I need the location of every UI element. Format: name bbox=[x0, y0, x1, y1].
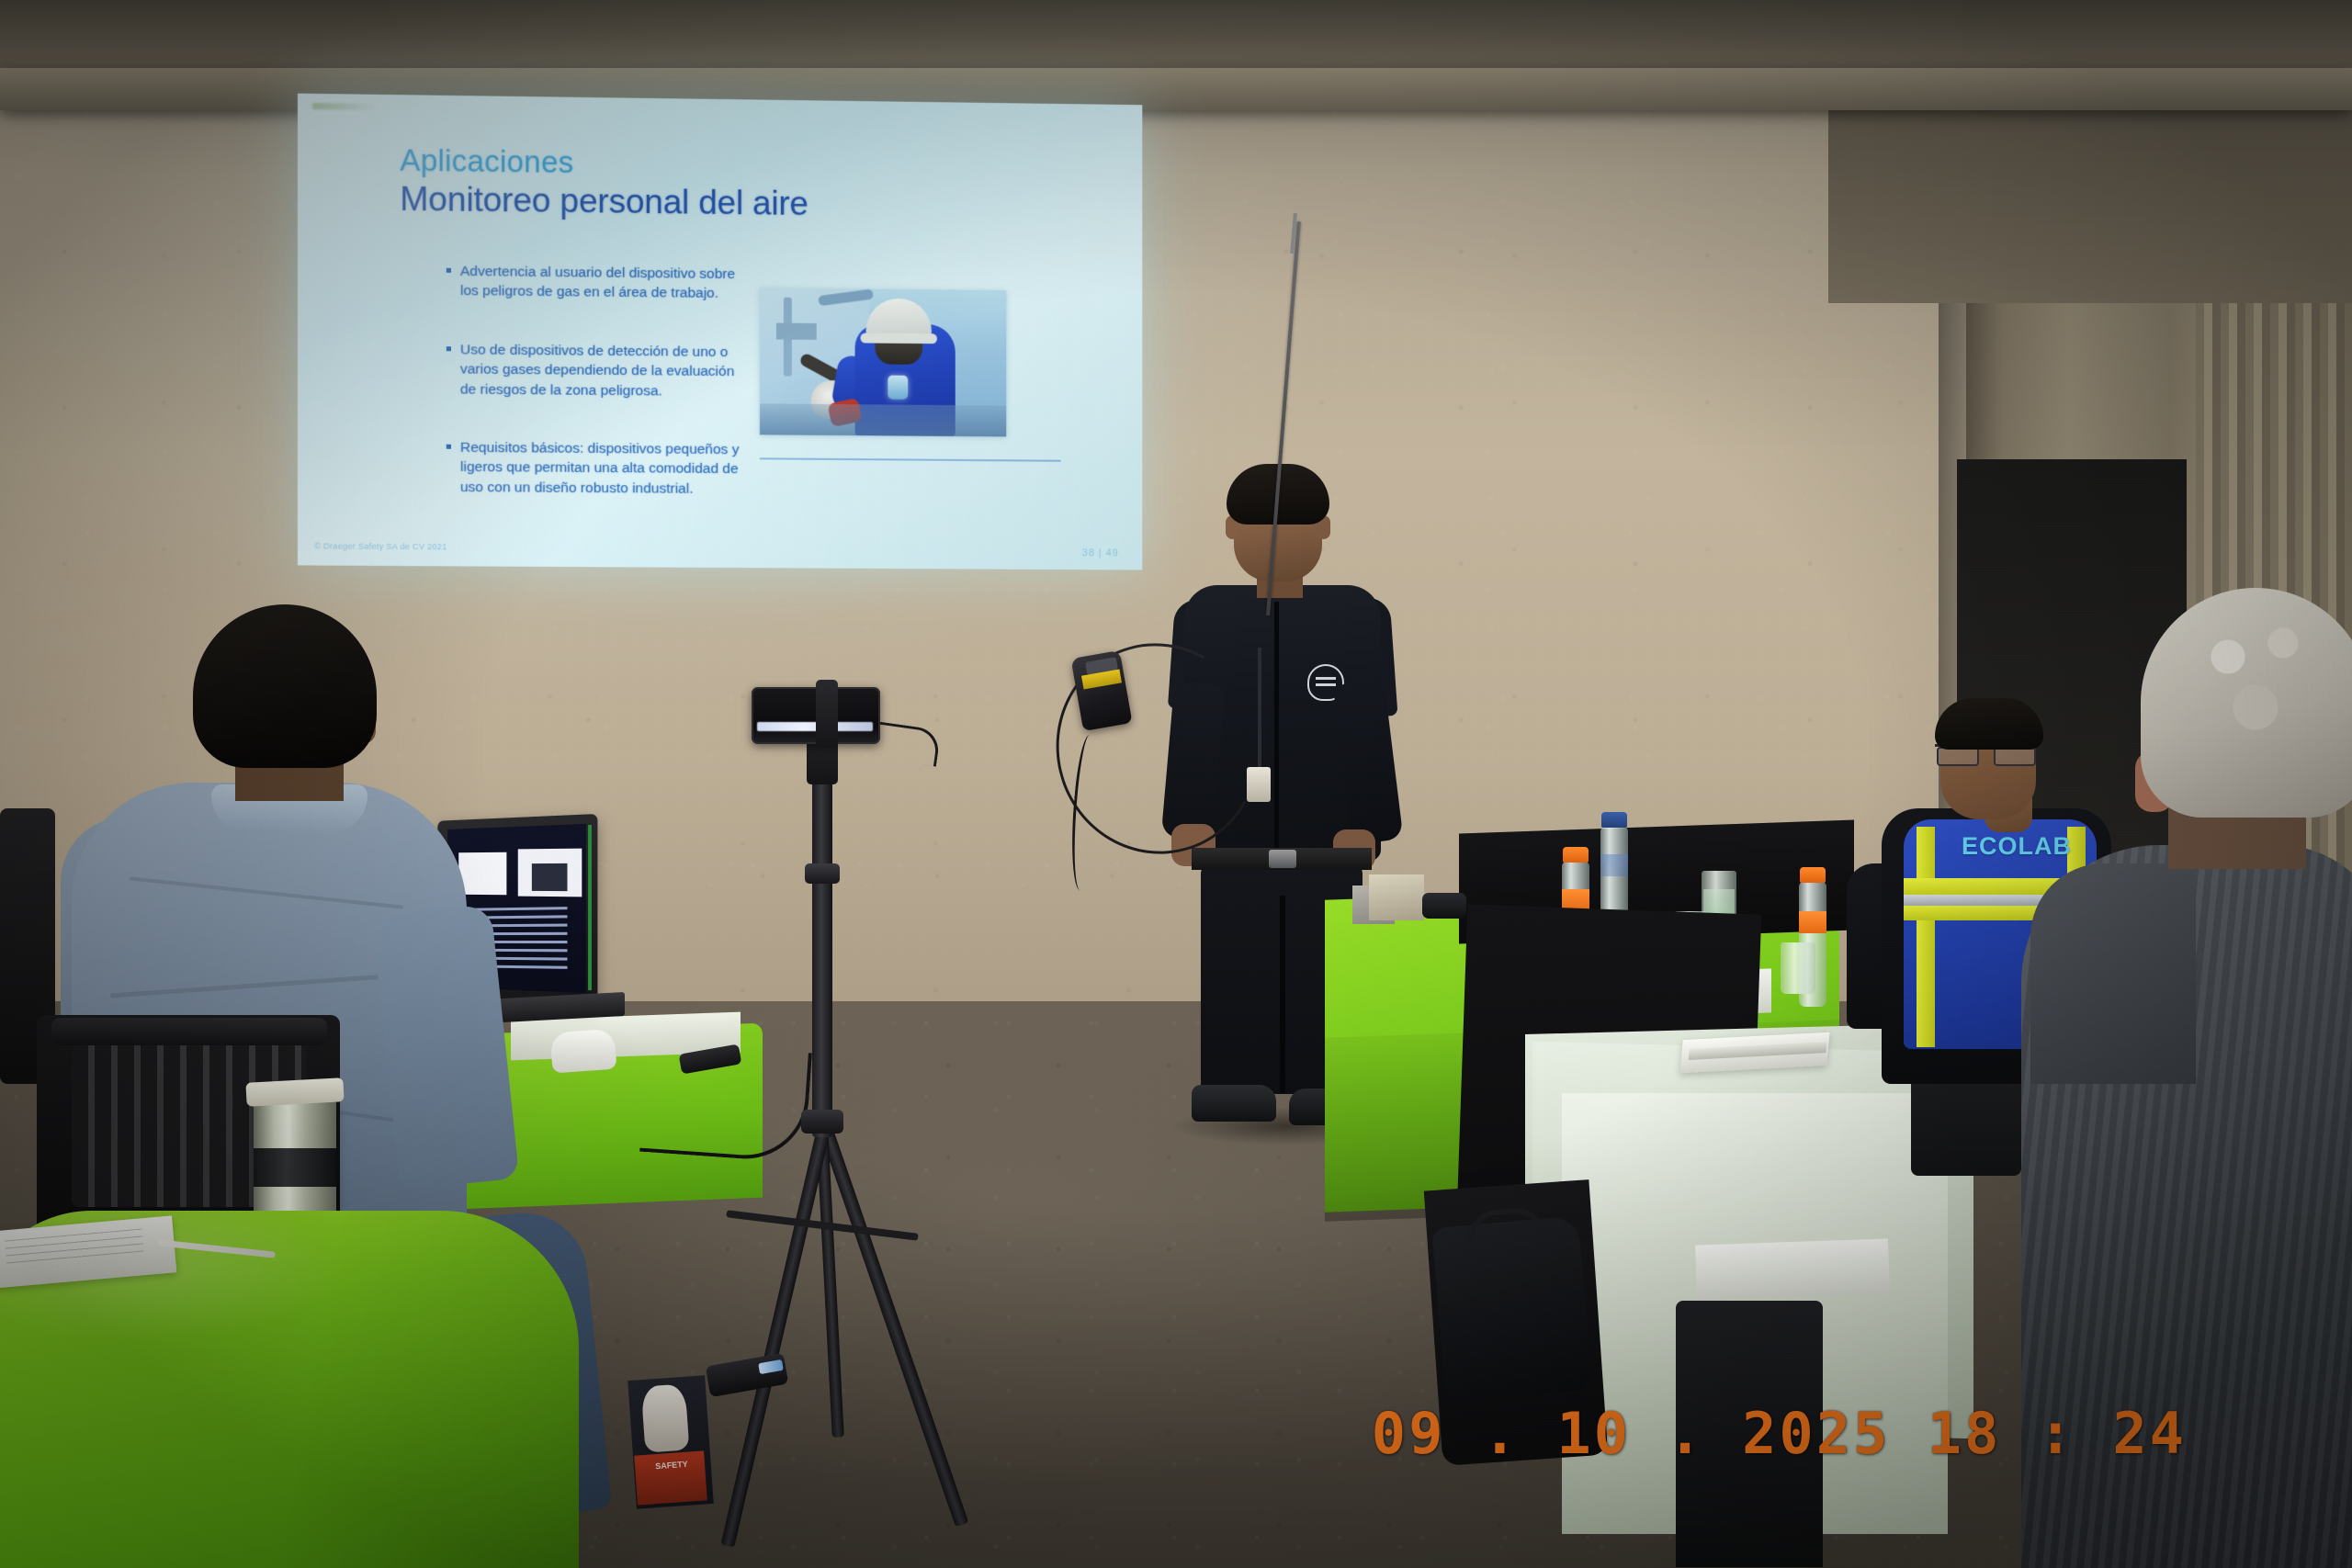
presenter-leg-separation bbox=[1280, 896, 1285, 1093]
presenter-shoe-left bbox=[1192, 1085, 1276, 1122]
bottle-cap-orange bbox=[1563, 847, 1589, 863]
attendee-vest-hair bbox=[1935, 698, 2043, 750]
presenter-shirt-placket bbox=[1274, 602, 1279, 850]
vest-stripe-vertical bbox=[1917, 827, 1935, 1047]
bottle-cap-blue bbox=[1601, 812, 1627, 828]
slide-top-marking bbox=[312, 103, 378, 110]
bottle-label-orange bbox=[1799, 911, 1826, 933]
slide-eyebrow: Aplicaciones bbox=[400, 142, 573, 180]
projected-slide: Aplicaciones Monitoreo personal del aire… bbox=[298, 94, 1142, 570]
slide-photo-gas-detector bbox=[888, 376, 908, 400]
attendee-front-right-shoulder bbox=[2030, 863, 2196, 1084]
floor-case-graphic bbox=[641, 1383, 690, 1452]
bottle-label bbox=[1600, 854, 1628, 876]
drinking-glass bbox=[1781, 942, 1815, 994]
slide-page-number: 38 | 49 bbox=[1082, 547, 1119, 558]
camera-date-stamp: 09 . 10 . 2025 18 : 24 bbox=[1372, 1400, 2187, 1467]
bag-on-floor bbox=[1431, 1215, 1593, 1402]
travel-mug-grip bbox=[254, 1148, 336, 1187]
slide-bullet: Requisitos básicos: dispositivos pequeño… bbox=[445, 438, 740, 500]
attendee-left-hair bbox=[193, 604, 377, 768]
slide-bullet-list: Advertencia al usuario del dispositivo s… bbox=[445, 262, 740, 537]
slide-photo-ground bbox=[760, 403, 1006, 436]
slide-title: Monitoreo personal del aire bbox=[400, 180, 808, 223]
tripod-knob bbox=[805, 863, 840, 884]
black-device bbox=[1422, 893, 1466, 919]
slide-photo-hard-hat-brim bbox=[861, 333, 937, 344]
slide-photo-worker bbox=[760, 288, 1006, 436]
slide-bullet: Uso de dispositivos de detección de uno … bbox=[445, 340, 740, 401]
slide-copyright: © Draeger Safety SA de CV 2021 bbox=[314, 541, 447, 551]
presenter-belt-buckle bbox=[1269, 850, 1296, 868]
attendee-front-right-hair bbox=[2141, 588, 2352, 818]
presentation-photo: Aplicaciones Monitoreo personal del aire… bbox=[0, 0, 2352, 1568]
bottle-cap-orange bbox=[1800, 867, 1826, 883]
chair-top-rail bbox=[51, 1018, 327, 1045]
travel-mug-lid bbox=[245, 1077, 344, 1107]
slide-divider-line bbox=[760, 457, 1061, 461]
slide-photo-plate bbox=[776, 323, 817, 340]
papers-right bbox=[1695, 1238, 1890, 1300]
phone-mount-clamp bbox=[816, 680, 838, 748]
small-box-cardboard bbox=[1369, 874, 1424, 920]
tripod-column bbox=[812, 779, 832, 1137]
smartphone-screen bbox=[757, 722, 873, 731]
slide-bullet: Advertencia al usuario del dispositivo s… bbox=[445, 262, 740, 304]
tripod-knob bbox=[801, 1110, 843, 1134]
